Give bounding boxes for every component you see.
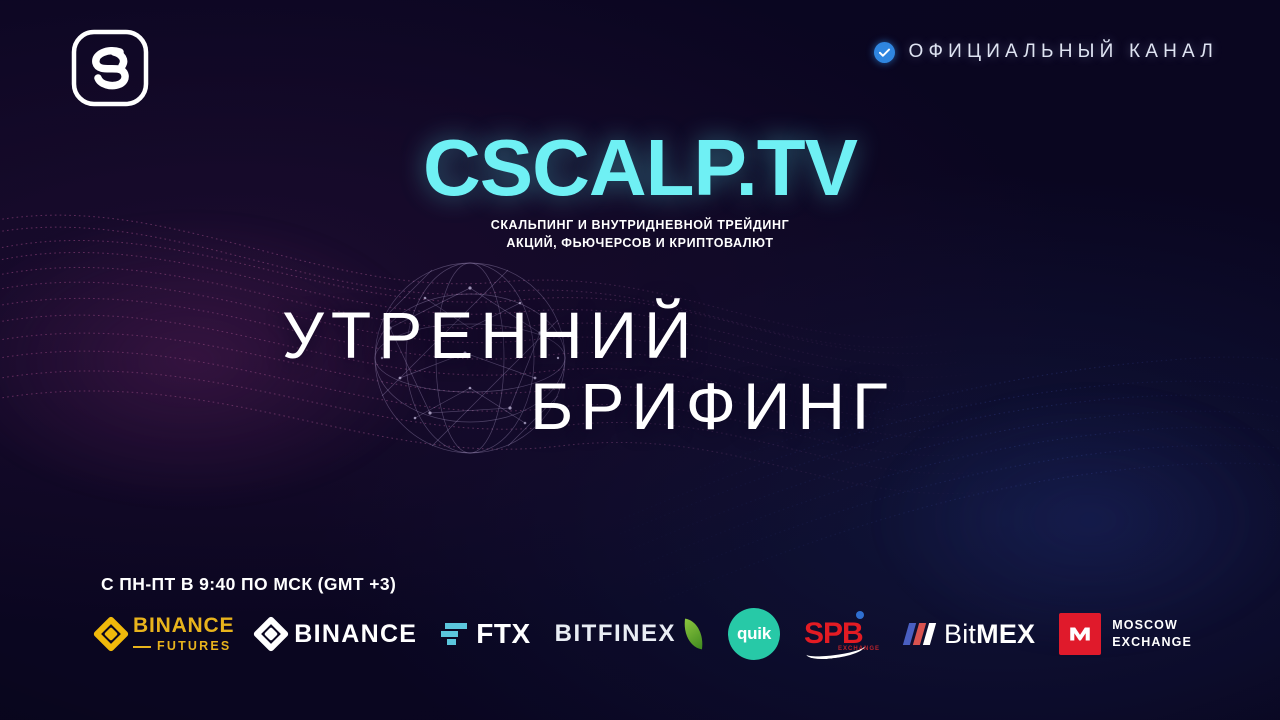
bitmex-label-bold: MEX [976,619,1035,649]
partner-ftx[interactable]: FTX [441,606,530,662]
bitfinex-leaf-icon [681,619,706,650]
quik-label: quik [737,624,771,644]
brand-tagline-line-2: АКЦИЙ, ФЬЮЧЕРСОВ И КРИПТОВАЛЮТ [0,234,1280,252]
partner-logos-strip: BINANCE FUTURES BINANCE FTX [98,606,1208,662]
partner-spb-exchange[interactable]: SPB EXCHANGE [804,606,882,662]
official-channel-label: ОФИЦИАЛЬНЫЙ КАНАЛ [908,41,1218,63]
spb-swoosh-icon: SPB EXCHANGE [804,611,882,657]
binance-diamond-icon [253,616,290,653]
moex-label-line-2: EXCHANGE [1112,634,1192,651]
binance-futures-rule [133,646,151,648]
main-title: УТРЕННИЙ БРИФИНГ [0,300,1280,443]
poster-stage: ОФИЦИАЛЬНЫЙ КАНАЛ CSCALP.TV СКАЛЬПИНГ И … [0,0,1280,720]
moex-label-line-1: MOSCOW [1112,617,1192,634]
brand-title-block: CSCALP.TV СКАЛЬПИНГ И ВНУТРИДНЕВНОЙ ТРЕЙ… [0,128,1280,252]
partner-binance[interactable]: BINANCE [258,606,417,662]
binance-futures-label-top: BINANCE [133,615,234,636]
partner-moscow-exchange[interactable]: MOSCOW EXCHANGE [1059,606,1192,662]
bitmex-slashes-icon [903,623,939,645]
binance-label: BINANCE [294,620,417,649]
quik-circle-icon: quik [728,608,780,660]
brand-wordmark: CSCALP.TV [0,128,1280,208]
verified-check-icon [874,42,895,63]
moex-m-icon [1059,613,1101,655]
ftx-label: FTX [476,618,530,650]
bitmex-label-thin: Bit [944,619,976,649]
partner-bitmex[interactable]: BitMEX [906,606,1035,662]
brand-tagline-line-1: СКАЛЬПИНГ И ВНУТРИДНЕВНОЙ ТРЕЙДИНГ [0,216,1280,234]
cscalp-logo-mark[interactable] [70,28,150,108]
binance-diamond-icon [93,616,130,653]
schedule-label: С ПН-ПТ В 9:40 ПО МСК (GMT +3) [101,574,396,595]
main-title-line-1: УТРЕННИЙ [282,300,1280,371]
partner-binance-futures[interactable]: BINANCE FUTURES [98,606,234,662]
spb-sub-label: EXCHANGE [838,646,880,652]
bitfinex-label: BITFINEX [555,620,676,648]
partner-quik[interactable]: quik [728,606,780,662]
main-title-line-2: БРИФИНГ [530,371,1280,442]
partner-bitfinex[interactable]: BITFINEX [555,606,704,662]
binance-futures-label-bottom: FUTURES [157,640,231,653]
ftx-blocks-icon [441,621,467,647]
cscalp-monogram-icon [70,28,150,108]
official-channel-badge: ОФИЦИАЛЬНЫЙ КАНАЛ [874,41,1218,63]
